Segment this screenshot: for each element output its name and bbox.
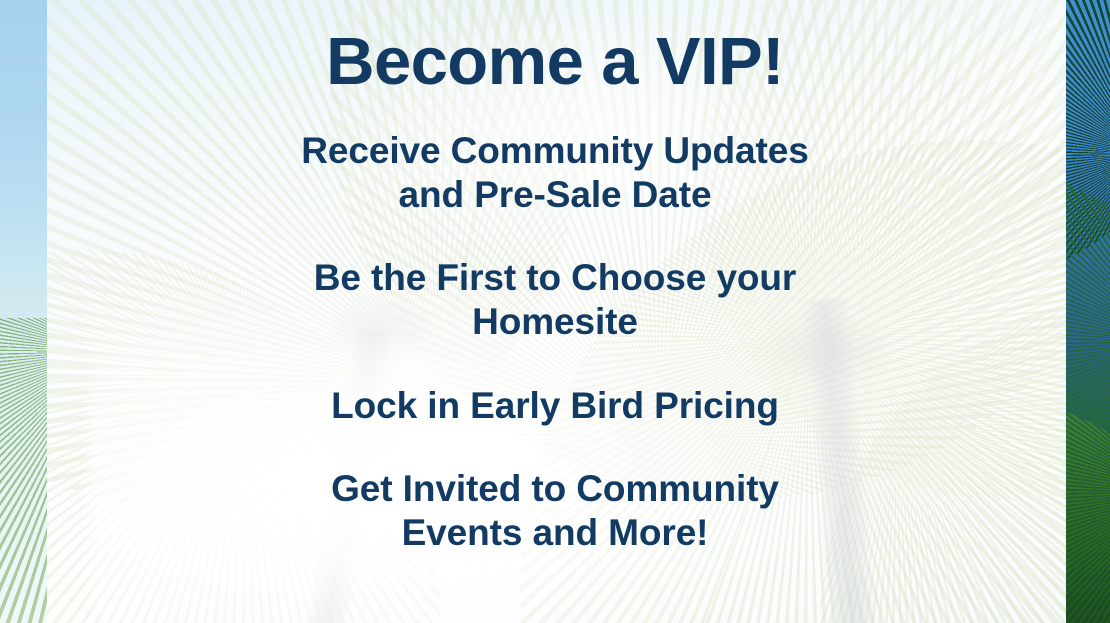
vip-signup-poster: Become a VIP! Receive Community Updates …: [0, 0, 1110, 623]
benefit-item: Receive Community Updates and Pre-Sale D…: [275, 129, 835, 216]
benefit-item: Get Invited to Community Events and More…: [275, 467, 835, 554]
benefits-list: Receive Community Updates and Pre-Sale D…: [0, 129, 1110, 555]
benefit-item: Lock in Early Bird Pricing: [275, 384, 835, 428]
page-title: Become a VIP!: [326, 0, 784, 95]
poster-content: Become a VIP! Receive Community Updates …: [0, 0, 1110, 623]
benefit-item: Be the First to Choose your Homesite: [275, 256, 835, 343]
